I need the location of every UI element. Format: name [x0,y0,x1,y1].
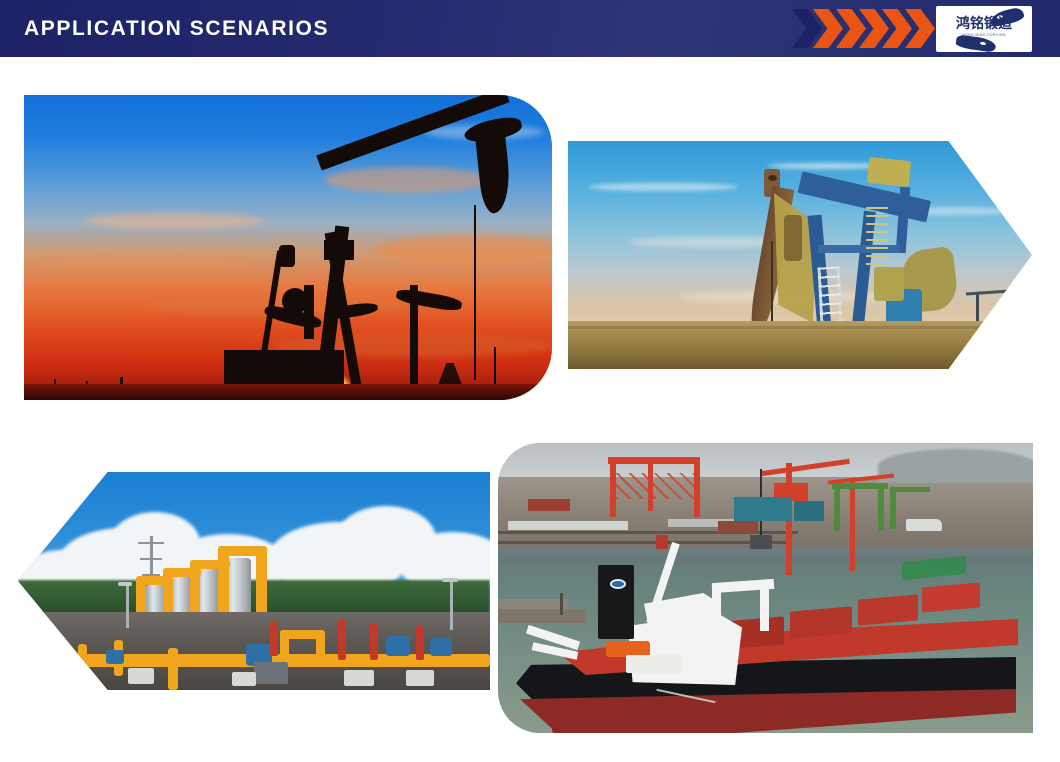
blue-valve-actuator [430,638,452,656]
deck-gantry-leg [712,585,721,631]
light-fixture [442,578,458,582]
polished-rod-cable [771,241,773,331]
tugboat [906,519,942,531]
rail-track [498,541,788,544]
gallery-image-pumpjack-daylight [568,141,1032,369]
pumpjack-weight-cutout [784,215,802,261]
pumpjack-bridle-cable [474,205,476,380]
rail-cars [508,521,628,530]
ground-horizon [24,384,552,400]
scene-shipyard-vessel [498,443,1033,733]
quay-lamp-post [560,593,563,615]
pumpjack-support [304,285,314,339]
pumpjack-tail-pin [768,175,777,181]
page-title: APPLICATION SCENARIOS [24,0,329,57]
pumpjack-counterweight [279,245,295,267]
shipping-containers [718,521,758,533]
container-crane-beam [890,487,930,492]
red-standpipe [338,620,346,660]
crane-hook-block [750,535,772,549]
gallery-image-oil-pumpjack-sunset [24,95,552,400]
red-standpipe [270,622,278,656]
cloud-wisp [324,167,494,193]
dock-warehouse [734,497,792,521]
deck-gantry-leg [760,583,769,631]
scene-sunset-pumpjack [24,95,552,400]
blue-valve-actuator [106,650,124,664]
funnel-logo-mark [612,581,624,587]
manifold-branch [316,630,325,660]
light-fixture [118,582,132,586]
cloud-wisp [374,235,552,265]
scene-daylight-pumpjack [568,141,1032,369]
transmission-crossarm [140,558,162,560]
distant-hills [878,449,1033,483]
container-crane-leg [834,483,840,531]
quay-edge [498,609,586,623]
cloud-wisp [84,213,264,229]
shipping-containers [528,499,570,511]
gallery-image-bulk-carrier-shipyard [498,443,1033,733]
cloud-wisp [34,255,254,273]
secondary-pumpjack-post [410,285,418,395]
logo-pinyin-text: HONG MING FORGING [936,33,1032,37]
light-pole [450,580,453,630]
manifold-riser [168,648,178,690]
red-standpipe [416,626,424,660]
bulbous-bow [552,715,612,733]
red-standpipe [370,624,378,660]
quay-edge [498,599,568,609]
light-pole [126,584,129,628]
equipment-cabinet [128,668,154,684]
pumpjack-gearbox [874,267,904,301]
pumpjack-handrail [866,207,888,269]
deck-store-unit [626,655,682,673]
manifold-branch [78,644,87,674]
pumpjack-horsehead [867,157,911,187]
equipment-cabinet [232,672,256,686]
valve-skid [254,662,288,684]
jib-crane-mast [850,479,855,571]
cargo-hatch-cover [922,582,980,612]
pumpjack-gearbox [324,240,354,260]
utility-pole [976,293,979,341]
container-crane-leg [890,487,896,529]
equipment-cabinet [344,670,374,686]
container-crane-leg [878,485,884,531]
gallery-image-gas-processing-plant [18,472,490,690]
scene-gas-plant [18,472,490,690]
equipment-cabinet [406,670,434,686]
logo-chinese-text: 鸿铭锻造 [936,17,1032,32]
deck-crane-head [656,535,668,549]
gantry-crane-truss [616,473,696,499]
transmission-crossarm [138,542,164,544]
dock-warehouse [794,501,824,521]
chevron-arrow-strip [792,9,942,48]
company-logo: 鸿铭锻造 HONG MING FORGING [936,6,1032,52]
cargo-hatch-cover [790,606,852,638]
page-header-banner: APPLICATION SCENARIOS 鸿铭锻造 HONG MING FOR… [0,0,1060,57]
fence-line [568,326,1032,329]
funnel-stack [598,565,634,639]
gantry-crane-beam [608,457,700,464]
container-crane-beam [832,483,888,489]
blue-valve-actuator [386,636,410,656]
cargo-hatch-cover [858,594,918,625]
cloud-wisp [588,183,738,191]
